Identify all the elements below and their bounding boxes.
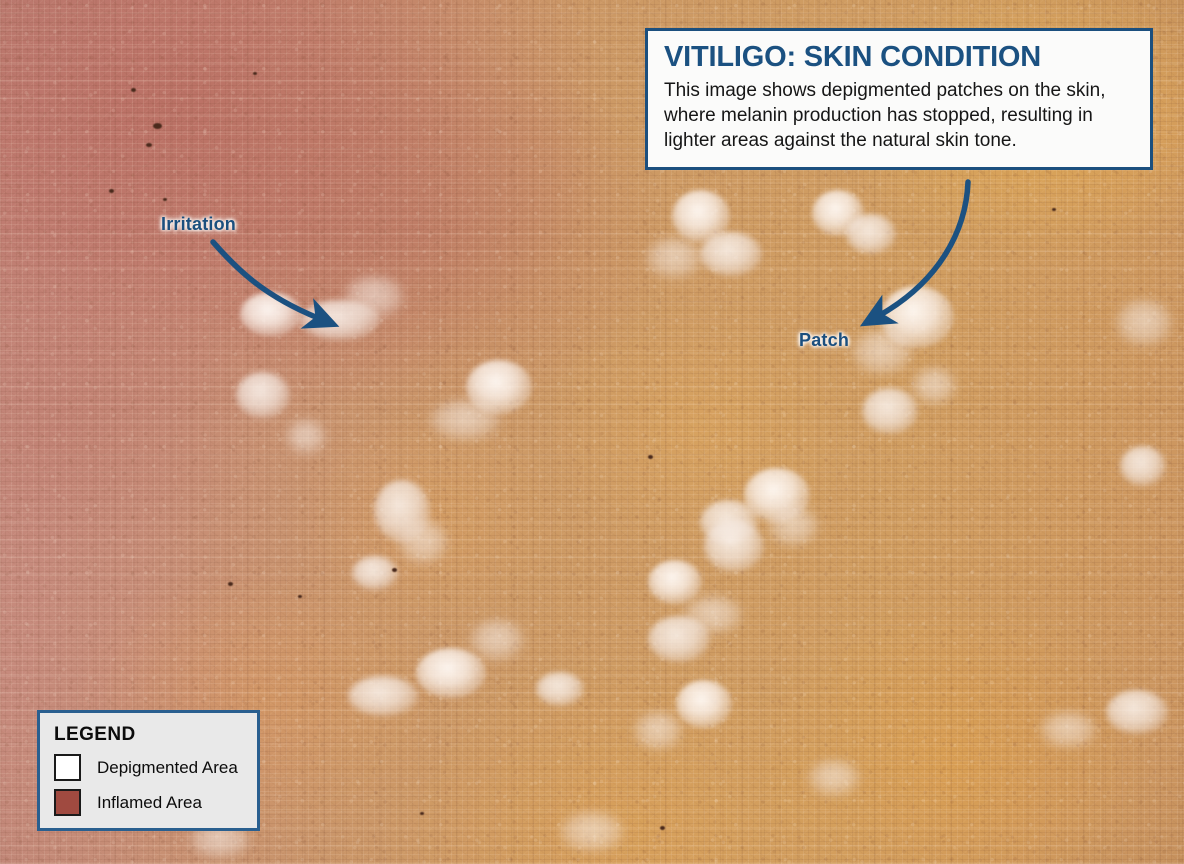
legend-swatch-depigmented — [54, 754, 81, 781]
annotation-label-patch: Patch — [799, 330, 849, 351]
legend-label-depigmented: Depigmented Area — [97, 758, 238, 778]
legend-title: LEGEND — [54, 724, 245, 746]
annotation-label-irritation: Irritation — [161, 214, 236, 235]
legend-label-inflamed: Inflamed Area — [97, 793, 202, 813]
legend-swatch-inflamed — [54, 789, 81, 816]
info-title: VITILIGO: SKIN CONDITION — [664, 41, 1134, 73]
info-callout-box: VITILIGO: SKIN CONDITION This image show… — [645, 28, 1153, 170]
legend-item-inflamed: Inflamed Area — [54, 789, 245, 816]
vitiligo-image-annotation: Irritation Patch VITILIGO: SKIN CONDITIO… — [0, 0, 1184, 864]
legend-panel: LEGEND Depigmented Area Inflamed Area — [37, 710, 260, 831]
legend-item-depigmented: Depigmented Area — [54, 754, 245, 781]
info-description: This image shows depigmented patches on … — [664, 78, 1134, 153]
